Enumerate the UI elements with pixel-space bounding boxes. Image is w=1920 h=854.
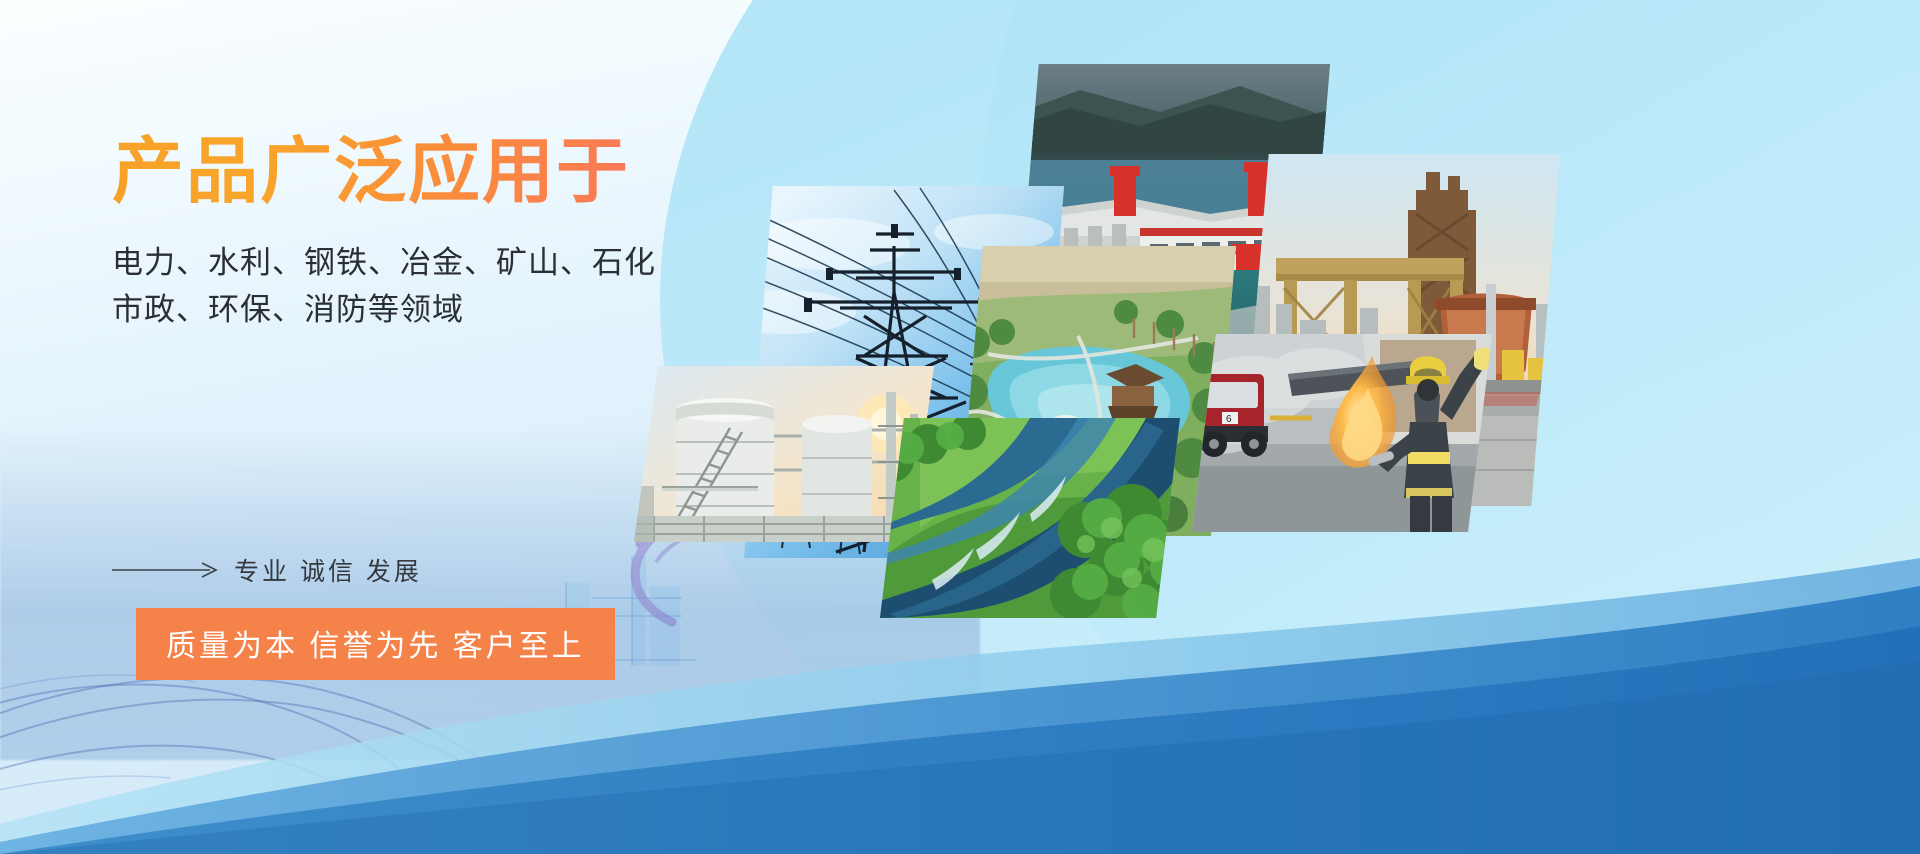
svg-text:6: 6 <box>1226 414 1232 425</box>
badge-label: 质量为本 信誉为先 客户至上 <box>166 621 585 665</box>
subtitle-line-2: 市政、环保、消防等领域 <box>112 286 812 333</box>
subtitle: 电力、水利、钢铁、冶金、矿山、石化 市政、环保、消防等领域 <box>112 239 812 333</box>
promo-banner: 6 <box>0 0 1920 854</box>
status-badge: 质量为本 信誉为先 客户至上 <box>136 608 615 680</box>
firefighter-image: 6 <box>1192 334 1492 532</box>
petrochemical-tanks-image <box>634 366 934 542</box>
subtitle-line-1: 电力、水利、钢铁、冶金、矿山、石化 <box>112 239 812 286</box>
collage-photo-firefighter[interactable]: 6 <box>1192 334 1492 532</box>
long-arrow-right-icon <box>112 560 220 580</box>
tagline-row: 专业 诚信 发展 <box>112 552 422 588</box>
collage-photo-petrochemical-tanks[interactable] <box>634 366 934 542</box>
headline-block: 产品广泛应用于 电力、水利、钢铁、冶金、矿山、石化 市政、环保、消防等领域 <box>112 132 812 333</box>
tagline-text: 专业 诚信 发展 <box>234 552 422 588</box>
page-title: 产品广泛应用于 <box>112 132 812 213</box>
